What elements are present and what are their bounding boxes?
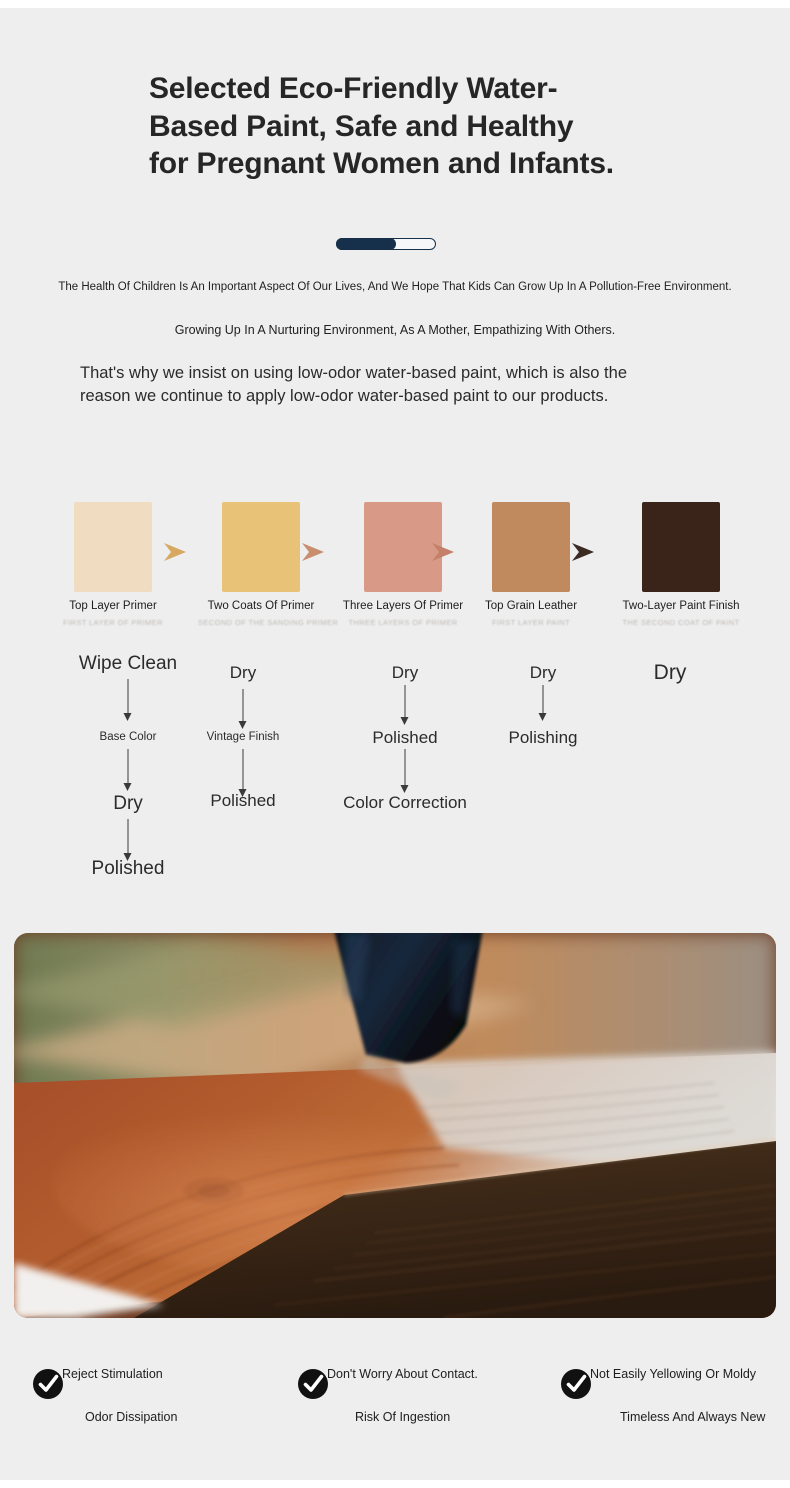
feature-row: Reject StimulationOdor DissipationDon't … bbox=[0, 1360, 790, 1450]
swatch-chip bbox=[643, 503, 719, 591]
photo-illustration bbox=[14, 933, 776, 1318]
arrow-right-icon bbox=[430, 541, 456, 563]
feature-subtitle: Odor Dissipation bbox=[85, 1410, 177, 1424]
flow-arrow-down-icon bbox=[243, 689, 244, 729]
swatch-chip bbox=[223, 503, 299, 591]
flow-step-label: Base Color bbox=[100, 731, 157, 743]
flow-arrow-down-icon bbox=[128, 749, 129, 791]
arrow-right-icon bbox=[570, 541, 596, 563]
swatch-label: Top Layer Primer bbox=[50, 600, 176, 612]
tagline-secondary: Growing Up In A Nurturing Environment, A… bbox=[0, 323, 790, 337]
flow-step-label: Dry bbox=[230, 663, 256, 683]
body-paragraph: That's why we insist on using low-odor w… bbox=[80, 362, 640, 409]
flow-step-label: Vintage Finish bbox=[207, 731, 280, 743]
swatch-sublabel: SECOND OF THE SANDING PRIMER bbox=[198, 618, 324, 627]
check-circle-icon bbox=[297, 1368, 329, 1400]
swatch-sublabel: THREE LAYERS OF PRIMER bbox=[340, 618, 466, 627]
check-circle-icon bbox=[560, 1368, 592, 1400]
swatch-label: Top Grain Leather bbox=[468, 600, 594, 612]
tagline-primary: The Health Of Children Is An Important A… bbox=[0, 281, 790, 293]
check-circle-icon bbox=[32, 1368, 64, 1400]
flow-step-label: Polished bbox=[372, 728, 437, 748]
swatch-chip bbox=[75, 503, 151, 591]
flow-step-label: Dry bbox=[654, 661, 687, 685]
flow-step-label: Dry bbox=[530, 663, 556, 683]
swatch-chip bbox=[493, 503, 569, 591]
swatch-item: Three Layers Of PrimerTHREE LAYERS OF PR… bbox=[340, 503, 466, 627]
flow-step-label: Dry bbox=[113, 793, 143, 815]
swatch-item: Top Layer PrimerFIRST LAYER OF PRIMER bbox=[50, 503, 176, 627]
arrow-right-icon bbox=[162, 541, 188, 563]
flow-arrow-down-icon bbox=[543, 685, 544, 721]
process-flow-diagram: Wipe CleanBase ColorDryPolishedDryVintag… bbox=[0, 653, 790, 903]
product-detail-page: Selected Eco-Friendly Water-Based Paint,… bbox=[0, 8, 790, 1480]
flow-arrow-down-icon bbox=[128, 819, 129, 861]
swatch-item: Two-Layer Paint FinishTHE SECOND COAT OF… bbox=[618, 503, 744, 627]
flow-step-label: Wipe Clean bbox=[79, 653, 177, 675]
swatch-sublabel: FIRST LAYER PAINT bbox=[468, 618, 594, 627]
feature-subtitle: Timeless And Always New bbox=[620, 1410, 765, 1424]
arrow-right-icon bbox=[300, 541, 326, 563]
feature-subtitle: Risk Of Ingestion bbox=[355, 1410, 450, 1424]
page-headline: Selected Eco-Friendly Water-Based Paint,… bbox=[149, 70, 619, 183]
flow-arrow-down-icon bbox=[405, 685, 406, 725]
divider-fill bbox=[336, 238, 396, 250]
feature-title: Not Easily Yellowing Or Moldy bbox=[590, 1366, 770, 1382]
swatch-sublabel: FIRST LAYER OF PRIMER bbox=[50, 618, 176, 627]
swatch-label: Three Layers Of Primer bbox=[340, 600, 466, 612]
flow-arrow-down-icon bbox=[243, 749, 244, 797]
flow-step-label: Dry bbox=[392, 663, 418, 683]
flow-arrow-down-icon bbox=[128, 679, 129, 721]
progress-divider bbox=[336, 238, 436, 250]
finish-swatch-row: Top Layer PrimerFIRST LAYER OF PRIMERTwo… bbox=[50, 503, 760, 643]
flow-step-label: Color Correction bbox=[343, 793, 467, 813]
swatch-item: Two Coats Of PrimerSECOND OF THE SANDING… bbox=[198, 503, 324, 627]
product-photo bbox=[14, 933, 776, 1318]
swatch-sublabel: THE SECOND COAT OF PAINT bbox=[618, 618, 744, 627]
feature-title: Reject Stimulation bbox=[62, 1366, 242, 1382]
swatch-item: Top Grain LeatherFIRST LAYER PAINT bbox=[468, 503, 594, 627]
flow-step-label: Polished bbox=[92, 858, 165, 880]
swatch-label: Two-Layer Paint Finish bbox=[618, 600, 744, 612]
flow-step-label: Polishing bbox=[509, 728, 578, 748]
feature-title: Don't Worry About Contact. bbox=[327, 1366, 507, 1382]
flow-arrow-down-icon bbox=[405, 749, 406, 793]
swatch-label: Two Coats Of Primer bbox=[198, 600, 324, 612]
